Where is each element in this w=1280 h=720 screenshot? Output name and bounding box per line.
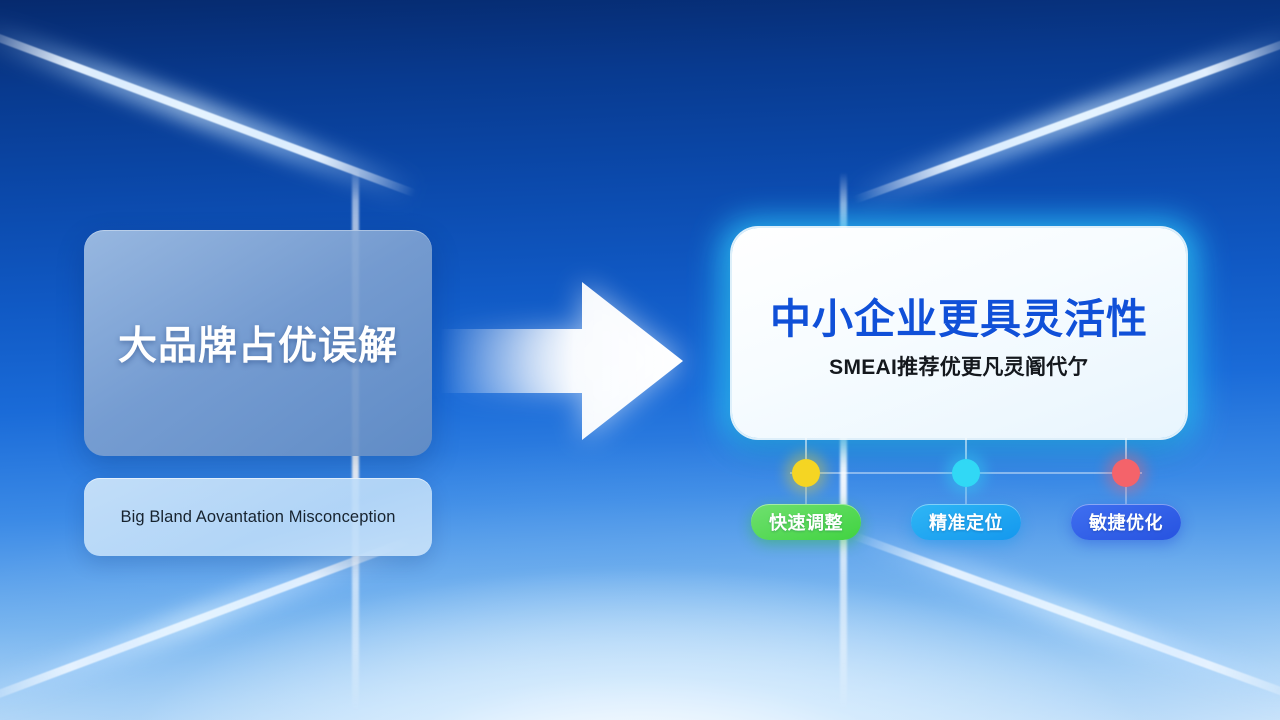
node-pill-label: 快速调整 (769, 509, 843, 535)
right-concept-card[interactable]: 中小企业更具灵活性 SMEAI推荐优更凡灵阍代亇 (732, 228, 1186, 438)
node-pill-label: 精准定位 (929, 509, 1003, 535)
slide-canvas: 大品牌占优误解 Big Bland Aovantation Misconcept… (0, 0, 1280, 720)
left-concept-subtitle-card[interactable]: Big Bland Aovantation Misconception (84, 478, 432, 556)
light-beam-bottom-right (851, 531, 1280, 704)
right-arrow-icon (440, 272, 690, 450)
left-concept-card[interactable]: 大品牌占优误解 (84, 230, 432, 456)
node-dot-marker[interactable] (792, 459, 820, 487)
light-beam-top-left (0, 25, 417, 197)
light-beam-bottom-left (0, 536, 414, 708)
node-dot-marker[interactable] (952, 459, 980, 487)
node-pill-2[interactable]: 敏捷优化 (1071, 504, 1181, 540)
node-pill-label: 敏捷优化 (1089, 509, 1163, 535)
right-card-title: 中小企业更具灵活性 (770, 285, 1148, 345)
left-card-subtitle: Big Bland Aovantation Misconception (120, 508, 395, 527)
left-card-title: 大品牌占优误解 (118, 315, 398, 371)
light-beam-top-right (853, 32, 1280, 204)
node-pill-0[interactable]: 快速调整 (751, 504, 861, 540)
node-dot-marker[interactable] (1112, 459, 1140, 487)
right-card-subtitle: SMEAI推荐优更凡灵阍代亇 (829, 351, 1089, 381)
node-pill-1[interactable]: 精准定位 (911, 504, 1021, 540)
